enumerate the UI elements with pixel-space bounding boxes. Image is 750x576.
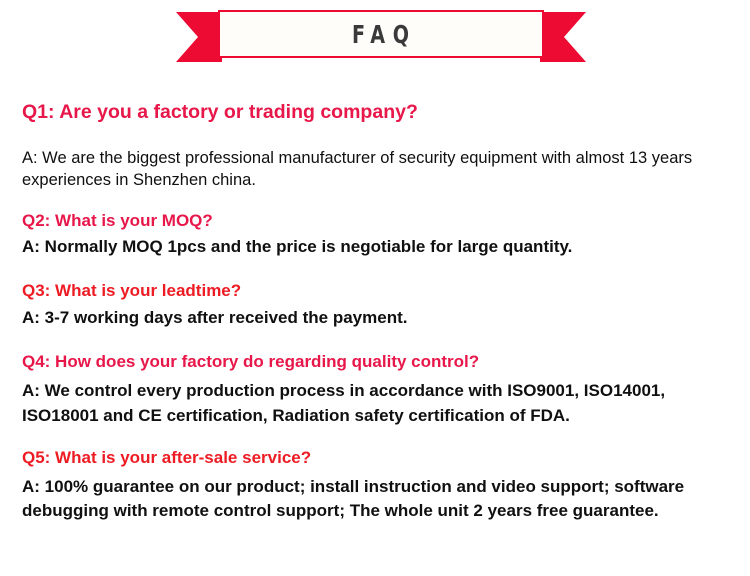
faq-answer: A: Normally MOQ 1pcs and the price is ne… (22, 236, 736, 259)
faq-answer: A: 100% guarantee on our product; instal… (22, 475, 736, 524)
ribbon-tail-left-icon (176, 12, 222, 62)
faq-item: Q1: Are you a factory or trading company… (22, 100, 736, 192)
faq-question: Q4: How does your factory do regarding q… (22, 351, 736, 373)
faq-question: Q2: What is your MOQ? (22, 210, 736, 232)
faq-question: Q3: What is your leadtime? (22, 280, 736, 302)
faq-list: Q1: Are you a factory or trading company… (22, 100, 736, 524)
faq-answer: A: We are the biggest professional manuf… (22, 147, 736, 191)
faq-item: Q5: What is your after-sale service? A: … (22, 447, 736, 524)
ribbon-tail-right-icon (540, 12, 586, 62)
faq-item: Q2: What is your MOQ? A: Normally MOQ 1p… (22, 210, 736, 259)
faq-answer: A: We control every production process i… (22, 379, 736, 428)
faq-item: Q3: What is your leadtime? A: 3-7 workin… (22, 280, 736, 329)
page-title: FAQ (345, 20, 417, 49)
faq-question: Q5: What is your after-sale service? (22, 447, 736, 469)
faq-question: Q1: Are you a factory or trading company… (22, 100, 736, 125)
faq-item: Q4: How does your factory do regarding q… (22, 351, 736, 428)
faq-banner: FAQ (176, 10, 586, 62)
banner-panel: FAQ (218, 10, 544, 58)
faq-answer: A: 3-7 working days after received the p… (22, 307, 736, 330)
